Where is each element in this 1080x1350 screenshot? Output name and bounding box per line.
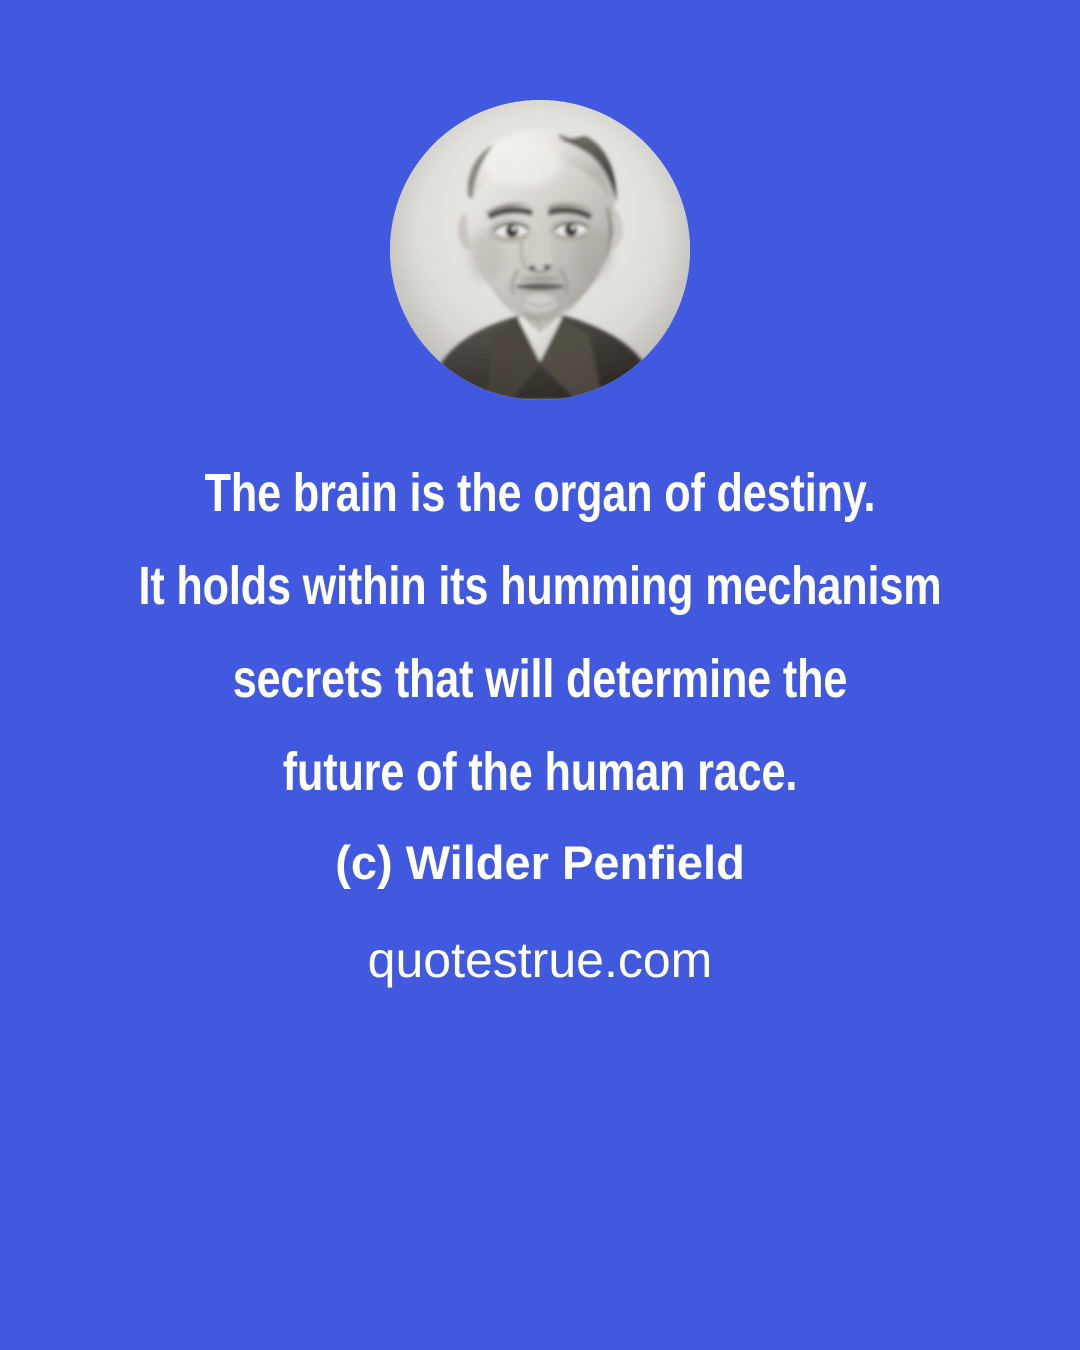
quote-text-block: The brain is the organ of destiny. It ho… (0, 447, 1080, 819)
quote-attribution: (c) Wilder Penfield (0, 834, 1080, 892)
quote-line-3: secrets that will determine the (108, 633, 972, 726)
portrait-photo-icon (390, 100, 690, 400)
author-portrait-avatar (390, 100, 690, 400)
quote-line-2: It holds within its humming mechanism (108, 540, 972, 633)
quote-line-1: The brain is the organ of destiny. (108, 447, 972, 540)
website-watermark: quotestrue.com (0, 930, 1080, 990)
quote-card: The brain is the organ of destiny. It ho… (0, 0, 1080, 1350)
quote-line-4: future of the human race. (108, 726, 972, 819)
